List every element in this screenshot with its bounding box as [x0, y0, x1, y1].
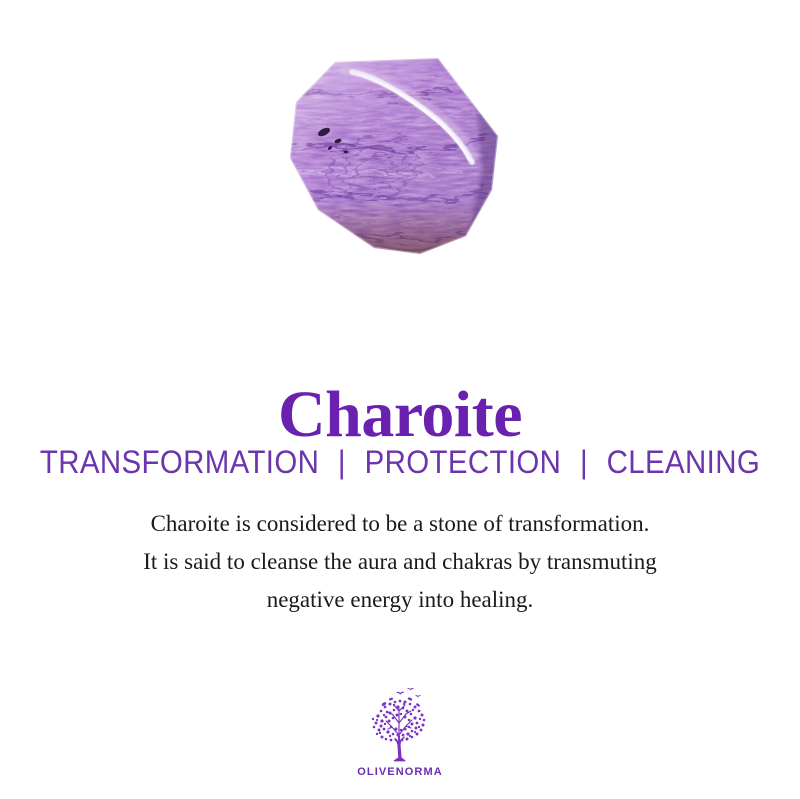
description-text: Charoite is considered to be a stone of … [40, 505, 760, 619]
brand-logo: OLIVENORMA [0, 683, 800, 778]
charoite-stone-image [270, 40, 520, 270]
description-line: Charoite is considered to be a stone of … [40, 505, 760, 543]
description-line: It is said to cleanse the aura and chakr… [40, 543, 760, 581]
hero-image-area [0, 0, 800, 300]
crystal-info-card: Charoite TRANSFORMATION | PROTECTION | C… [0, 0, 800, 799]
keyword-separator: | [328, 443, 356, 481]
keyword-list: TRANSFORMATION | PROTECTION | CLEANING [32, 443, 768, 481]
keyword-protection: PROTECTION [365, 444, 562, 480]
keyword-separator: | [570, 443, 598, 481]
page-title: Charoite [0, 378, 800, 452]
keyword-transformation: TRANSFORMATION [40, 444, 319, 480]
tree-icon [360, 683, 440, 765]
description-line: negative energy into healing. [40, 581, 760, 619]
keyword-cleaning: CLEANING [607, 444, 760, 480]
brand-wordmark: OLIVENORMA [0, 766, 800, 778]
